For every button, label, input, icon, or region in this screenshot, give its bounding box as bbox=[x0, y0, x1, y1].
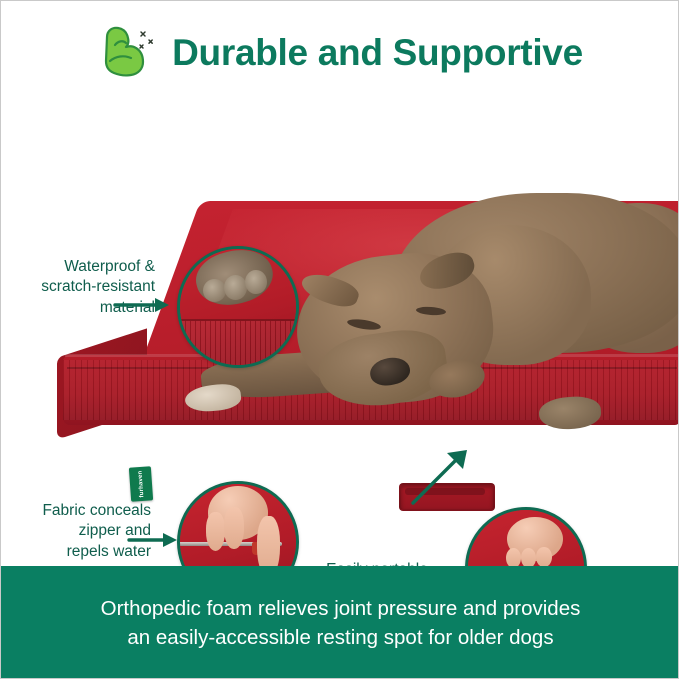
header: Durable and Supportive bbox=[1, 1, 679, 105]
arrow-right-icon bbox=[113, 295, 171, 320]
dog-photo bbox=[1, 105, 679, 566]
product-infographic: Durable and Supportive furhaven bbox=[0, 0, 679, 679]
arrow-up-right-icon bbox=[409, 447, 473, 512]
inset-finger bbox=[506, 548, 521, 566]
inset-hand-gripping-handle bbox=[465, 507, 587, 566]
inset-fabric-ribs bbox=[180, 321, 296, 365]
inset-finger bbox=[206, 512, 226, 551]
product-photo: furhaven bbox=[1, 105, 679, 566]
inset-paw-toe bbox=[224, 275, 247, 301]
dog-rear-paw bbox=[538, 395, 602, 431]
bottom-banner: Orthopedic foam relieves joint pressure … bbox=[1, 566, 679, 679]
flexed-bicep-icon bbox=[98, 23, 158, 85]
inset-paw-toe bbox=[245, 270, 267, 294]
inset-finger bbox=[224, 507, 244, 549]
inset-hand-opening-zipper bbox=[177, 481, 299, 566]
dog-front-paw bbox=[184, 382, 242, 414]
banner-text: Orthopedic foam relieves joint pressure … bbox=[87, 594, 595, 652]
inset-paw-on-fabric bbox=[177, 246, 299, 368]
inset-thumb bbox=[257, 516, 280, 566]
page-title: Durable and Supportive bbox=[172, 32, 583, 74]
inset-finger bbox=[521, 548, 536, 566]
inset-finger bbox=[536, 547, 551, 566]
arrow-right-icon bbox=[127, 530, 179, 555]
